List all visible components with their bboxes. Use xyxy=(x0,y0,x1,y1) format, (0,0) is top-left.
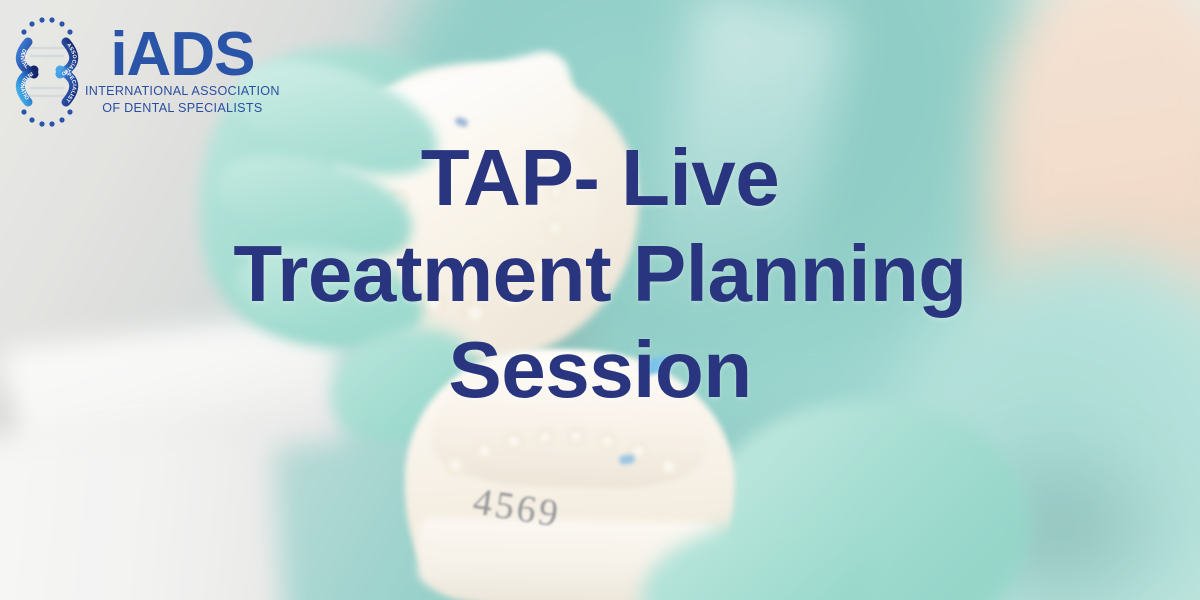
headline-block: TAP- Live Treatment Planning Session xyxy=(0,130,1200,418)
promo-banner: 4569 xyxy=(0,0,1200,600)
headline-line-1: TAP- Live xyxy=(0,130,1200,226)
logo-wordmark: iADS xyxy=(110,26,254,83)
logo-wordmark-block: iADS INTERNATIONAL ASSOCIATION OF DENTAL… xyxy=(85,26,280,115)
background-cabinet-body xyxy=(0,418,289,600)
logo-subtitle-line-1: INTERNATIONAL ASSOCIATION xyxy=(85,83,280,99)
logo-subtitle-line-2: OF DENTAL SPECIALISTS xyxy=(102,100,262,116)
headline-line-3: Session xyxy=(0,322,1200,418)
dna-helix-logo-icon: DENTAL ASSOCIATION INTERNATIONAL SPECIAL… xyxy=(6,12,86,132)
headline-line-2: Treatment Planning xyxy=(0,226,1200,322)
iads-logo[interactable]: DENTAL ASSOCIATION INTERNATIONAL SPECIAL… xyxy=(6,12,280,132)
